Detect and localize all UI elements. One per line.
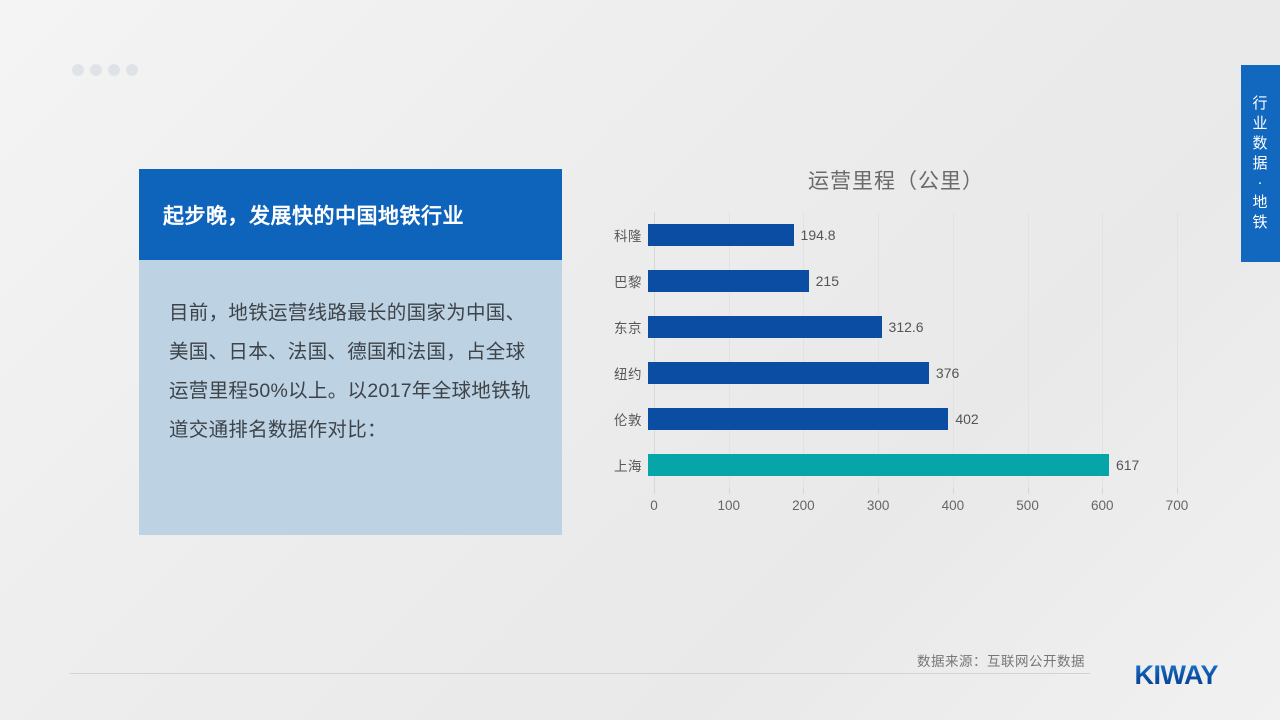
side-tab-char: 地 [1252,193,1268,213]
axis-tick-label: 700 [1166,498,1189,513]
bar-value-label: 617 [1116,457,1139,473]
bar-track: 215 [648,258,1196,304]
bar-segment[interactable] [648,454,1109,476]
chart-bar-row: 上海617 [596,442,1196,488]
chart-x-axis: 0100200300400500600700 [654,488,1177,522]
side-tab-char: 行 [1252,94,1268,114]
axis-tick [729,488,730,494]
axis-tick [654,488,655,494]
axis-tick-label: 600 [1091,498,1114,513]
bar-category-label: 伦敦 [596,409,648,429]
bar-track: 402 [648,396,1196,442]
side-tab-char: 数 [1252,134,1268,154]
bar-category-label: 巴黎 [596,271,648,291]
chart-bar-row: 巴黎215 [596,258,1196,304]
axis-tick [1177,488,1178,494]
axis-tick [953,488,954,494]
axis-tick-label: 400 [942,498,965,513]
info-card: 起步晚，发展快的中国地铁行业 目前，地铁运营线路最长的国家为中国、美国、日本、法… [139,169,562,535]
bar-segment[interactable] [648,316,882,338]
decorative-dots [72,64,138,76]
info-card-title: 起步晚，发展快的中国地铁行业 [163,200,464,230]
chart-bar-row: 科隆194.8 [596,212,1196,258]
side-tab-char: 据 [1252,154,1268,174]
axis-tick-label: 300 [867,498,890,513]
chart-plot-area: 科隆194.8巴黎215东京312.6纽约376伦敦402上海617 01002… [596,212,1196,502]
side-tab-char: 铁 [1252,213,1268,233]
dot-icon [108,64,120,76]
brand-logo: KIWAY [1134,660,1218,691]
chart-bar-row: 伦敦402 [596,396,1196,442]
bar-category-label: 纽约 [596,363,648,383]
chart-title: 运营里程（公里） [596,165,1196,195]
bar-track: 194.8 [648,212,1196,258]
chart-bar-row: 东京312.6 [596,304,1196,350]
footer-divider [70,673,1090,674]
bar-segment[interactable] [648,362,929,384]
bar-segment[interactable] [648,224,794,246]
side-tab-char: 业 [1252,114,1268,134]
chart-bar-row: 纽约376 [596,350,1196,396]
bar-segment[interactable] [648,270,809,292]
bar-value-label: 402 [955,411,978,427]
footer-source-note: 数据来源：互联网公开数据 [917,650,1085,670]
axis-tick [1102,488,1103,494]
bar-value-label: 312.6 [889,319,924,335]
side-tab-char: · [1258,173,1264,193]
axis-tick [1028,488,1029,494]
axis-tick-label: 100 [717,498,740,513]
section-tab-industry-data-metro[interactable]: 行 业 数 据 · 地 铁 [1241,65,1280,262]
axis-tick [878,488,879,494]
axis-tick-label: 200 [792,498,815,513]
bar-track: 312.6 [648,304,1196,350]
chart-bars: 科隆194.8巴黎215东京312.6纽约376伦敦402上海617 [596,212,1196,488]
bar-track: 376 [648,350,1196,396]
bar-track: 617 [648,442,1196,488]
axis-tick [803,488,804,494]
info-card-body: 目前，地铁运营线路最长的国家为中国、美国、日本、法国、德国和法国，占全球运营里程… [139,260,562,535]
bar-value-label: 194.8 [801,227,836,243]
dot-icon [72,64,84,76]
bar-category-label: 上海 [596,455,648,475]
axis-tick-label: 500 [1016,498,1039,513]
bar-category-label: 东京 [596,317,648,337]
bar-value-label: 215 [816,273,839,289]
dot-icon [90,64,102,76]
bar-category-label: 科隆 [596,225,648,245]
axis-tick-label: 0 [650,498,658,513]
bar-segment[interactable] [648,408,948,430]
info-card-paragraph: 目前，地铁运营线路最长的国家为中国、美国、日本、法国、德国和法国，占全球运营里程… [169,294,536,450]
bar-chart: 运营里程（公里） 科隆194.8巴黎215东京312.6纽约376伦敦402上海… [596,160,1196,560]
dot-icon [126,64,138,76]
bar-value-label: 376 [936,365,959,381]
info-card-header: 起步晚，发展快的中国地铁行业 [139,169,562,260]
